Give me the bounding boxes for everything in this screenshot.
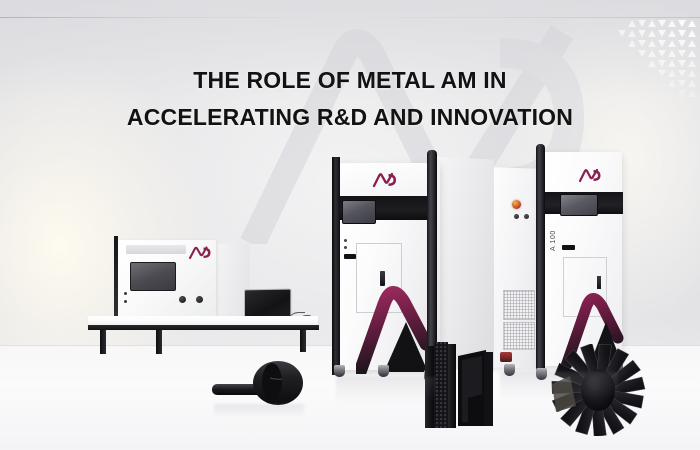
printer-right-model-label: A 100 bbox=[550, 222, 560, 260]
lattice-heat-exchanger-part bbox=[424, 338, 498, 430]
printer-center-caster-1 bbox=[334, 365, 345, 377]
desktop-unit-touchscreen[interactable] bbox=[130, 262, 176, 291]
desktop-unit-indicator-1 bbox=[124, 292, 127, 295]
title-line-2: ACCELERATING R&D AND INNOVATION bbox=[0, 99, 700, 136]
printer-right-slot bbox=[562, 245, 575, 250]
cylindrical-metal-part bbox=[210, 358, 306, 408]
printer-center-touchscreen[interactable] bbox=[342, 200, 376, 224]
printer-right-vent-upper bbox=[503, 290, 535, 320]
workbench-leg-2 bbox=[156, 330, 162, 354]
ad-monogram-logo-icon bbox=[372, 172, 398, 188]
printer-right-button-2[interactable] bbox=[524, 214, 529, 219]
workbench-leg-3 bbox=[300, 330, 306, 352]
printer-center-slot bbox=[344, 254, 356, 259]
presentation-slide: THE ROLE OF METAL AM IN ACCELERATING R&D… bbox=[0, 0, 700, 450]
ad-monogram-logo-icon bbox=[188, 246, 212, 260]
laptop-screen bbox=[244, 289, 291, 320]
desktop-unit-knob-1[interactable] bbox=[179, 296, 186, 303]
turbine-blisk-part bbox=[550, 344, 648, 436]
printer-right-vent-lower bbox=[503, 322, 535, 350]
printer-center-frame-left bbox=[332, 157, 340, 375]
printer-right-button-1[interactable] bbox=[514, 214, 519, 219]
desktop-unit-indicator-2 bbox=[124, 300, 127, 303]
printer-center-indicator-2 bbox=[344, 246, 347, 249]
floor-reflection-center bbox=[336, 377, 436, 403]
printer-right-foot bbox=[500, 352, 512, 362]
workbench-edge bbox=[88, 325, 319, 330]
printer-right-caster-2 bbox=[504, 364, 515, 376]
desktop-unit-knob-2[interactable] bbox=[196, 296, 203, 303]
ad-monogram-logo-icon bbox=[578, 168, 602, 183]
printer-right-frame-pillar bbox=[536, 144, 545, 372]
workbench-leg-1 bbox=[100, 330, 106, 354]
title-line-1: THE ROLE OF METAL AM IN bbox=[0, 62, 700, 99]
printer-center-caster-2 bbox=[378, 365, 389, 377]
desktop-unit-frame bbox=[114, 236, 118, 320]
printer-center-indicator-1 bbox=[344, 239, 347, 242]
page-title: THE ROLE OF METAL AM IN ACCELERATING R&D… bbox=[0, 62, 700, 136]
printer-right-touchscreen[interactable] bbox=[560, 194, 598, 216]
printer-right-caster-1 bbox=[536, 368, 547, 380]
desktop-unit-light-bar bbox=[126, 245, 186, 254]
emergency-stop-button-icon[interactable] bbox=[512, 200, 521, 209]
